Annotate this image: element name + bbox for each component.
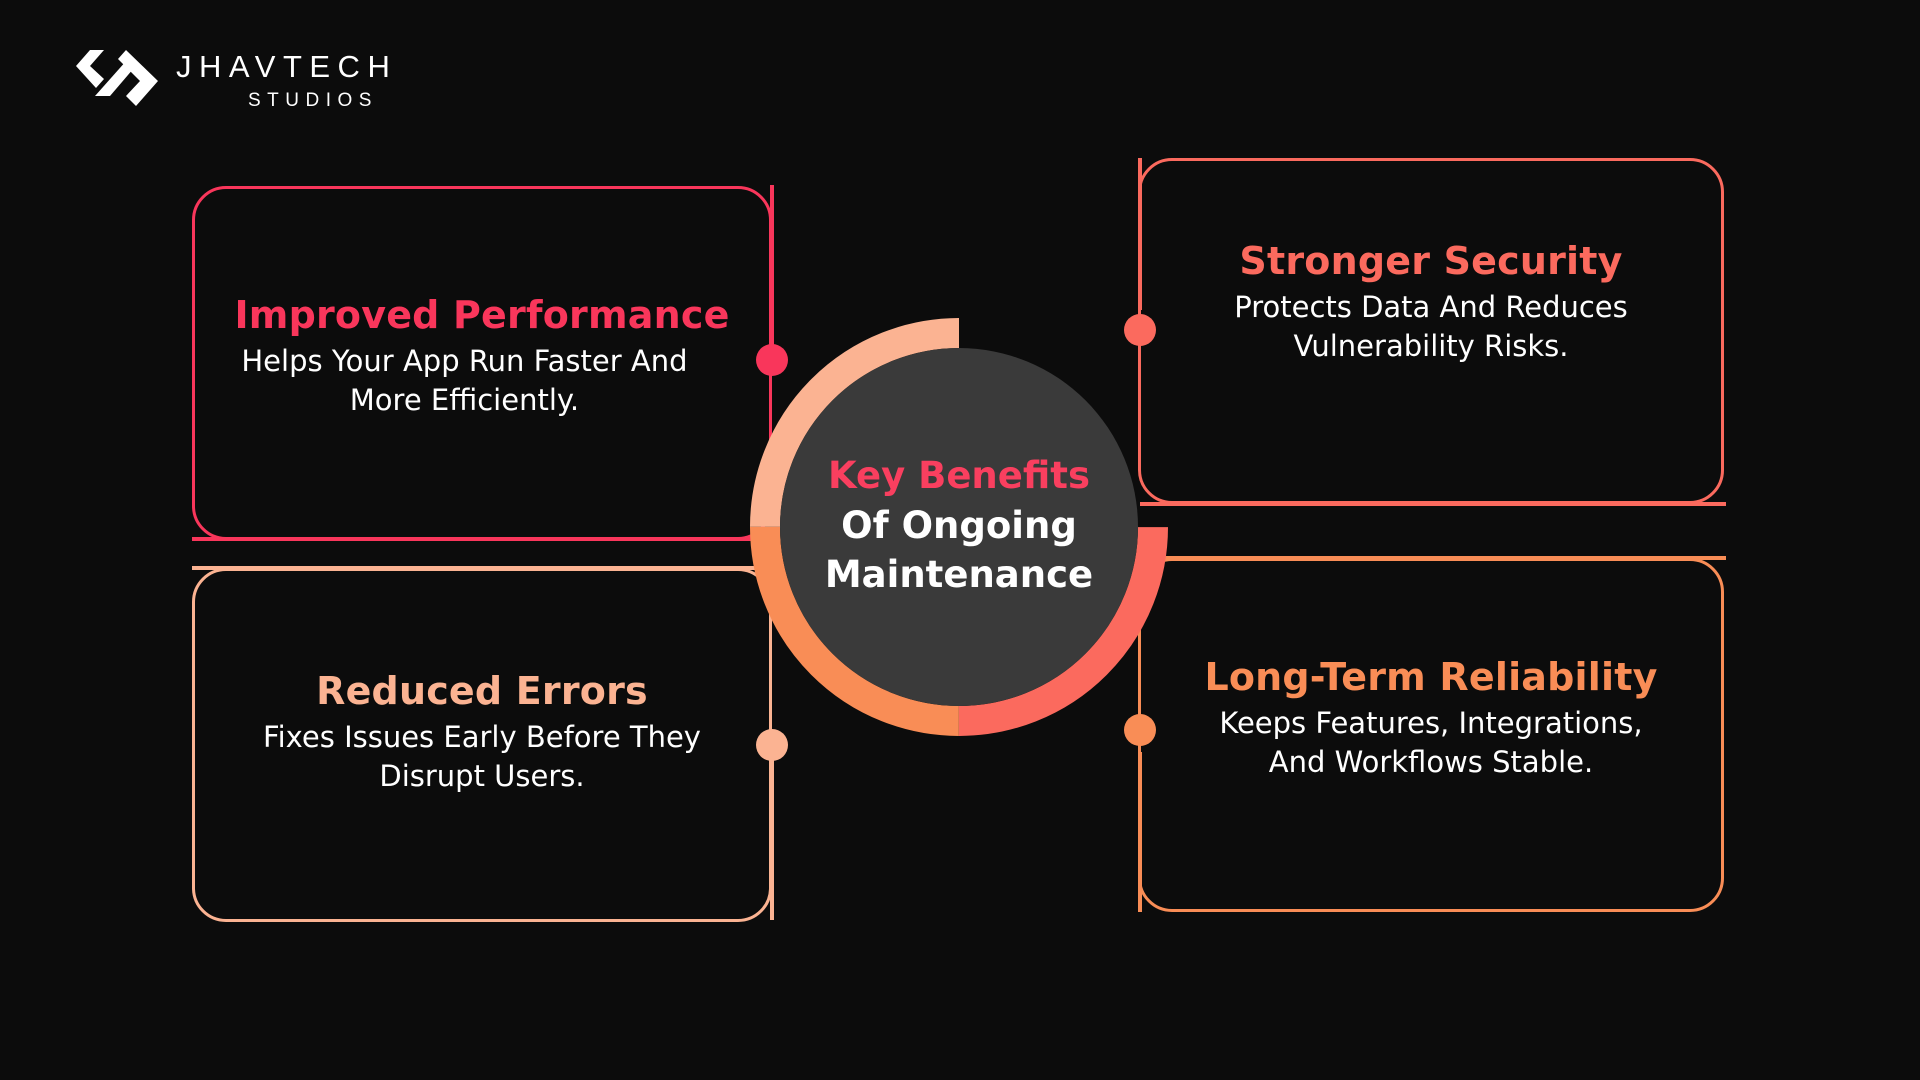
card-stronger-security-content: Stronger Security Protects Data And Redu…	[1167, 240, 1695, 366]
card-stronger-security[interactable]: Stronger Security Protects Data And Redu…	[1138, 158, 1724, 504]
card-improved-performance-desc: Helps Your App Run Faster And More Effic…	[234, 342, 694, 420]
center-title-line-1: Of Ongoing	[841, 502, 1077, 551]
infographic-canvas: JHAVTECH STUDIOS Improved Performance He…	[0, 0, 1920, 1080]
card-improved-performance-content: Improved Performance Helps Your App Run …	[200, 294, 763, 420]
card-reduced-errors-desc: Fixes Issues Early Before They Disrupt U…	[252, 718, 712, 796]
center-hub: Key Benefits Of Ongoing Maintenance	[750, 318, 1168, 736]
card-stronger-security-desc: Protects Data And Reduces Vulnerability …	[1201, 288, 1661, 366]
center-eyebrow: Key Benefits	[828, 454, 1090, 498]
card-long-term-reliability-title: Long-Term Reliability	[1201, 656, 1661, 699]
card-improved-performance-title: Improved Performance	[234, 294, 729, 337]
center-hub-inner: Key Benefits Of Ongoing Maintenance	[780, 348, 1138, 706]
card-long-term-reliability-content: Long-Term Reliability Keeps Features, In…	[1167, 656, 1695, 782]
card-long-term-reliability-desc: Keeps Features, Integrations, And Workfl…	[1201, 704, 1661, 782]
card-reduced-errors-title: Reduced Errors	[252, 670, 712, 713]
card-stronger-security-title: Stronger Security	[1201, 240, 1661, 283]
card-reduced-errors-content: Reduced Errors Fixes Issues Early Before…	[218, 670, 746, 796]
card-reduced-errors[interactable]: Reduced Errors Fixes Issues Early Before…	[192, 568, 772, 922]
card-long-term-reliability[interactable]: Long-Term Reliability Keeps Features, In…	[1138, 558, 1724, 912]
card-improved-performance[interactable]: Improved Performance Helps Your App Run …	[192, 186, 772, 540]
center-title-line-2: Maintenance	[825, 551, 1093, 600]
